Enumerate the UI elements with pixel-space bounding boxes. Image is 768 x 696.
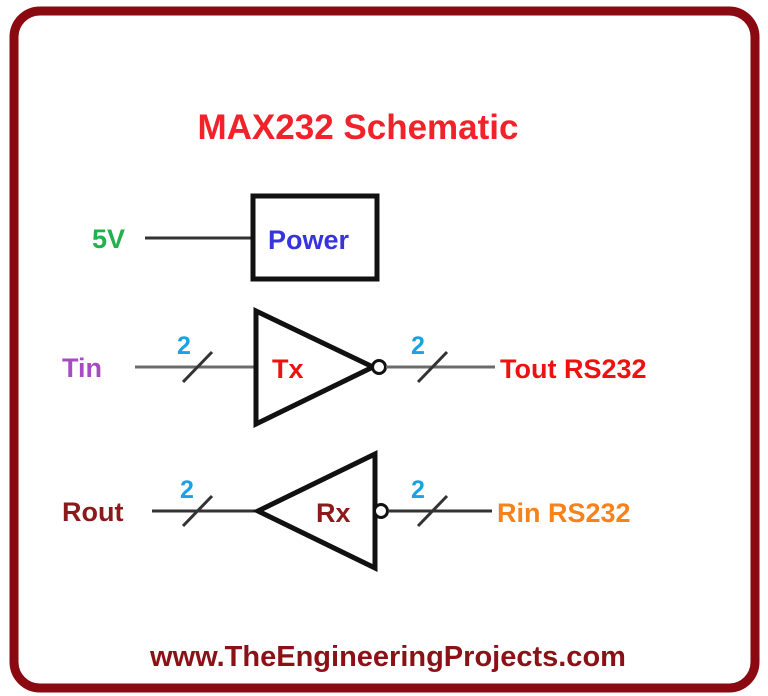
tin-bus-width-label: 2 [177, 332, 191, 360]
figure-title: MAX232 Schematic [198, 108, 519, 147]
rx-gate-label: Rx [316, 498, 351, 528]
tx-inverting-bubble-icon [373, 361, 386, 374]
rin-rs232-label: Rin RS232 [497, 498, 631, 528]
tout-bus-width-label: 2 [411, 332, 425, 360]
rout-bus-width-label: 2 [180, 476, 194, 504]
tin-label: Tin [62, 353, 102, 383]
schematic-figure: MAX232 Schematic 5V Power Tin 2 Tx 2 [0, 0, 768, 696]
tx-gate-label: Tx [272, 354, 304, 384]
rout-label: Rout [62, 497, 123, 527]
power-stage: 5V Power [92, 196, 377, 279]
power-block-label: Power [268, 225, 350, 255]
max232-schematic-svg: MAX232 Schematic 5V Power Tin 2 Tx 2 [0, 0, 768, 696]
footer-watermark: www.TheEngineeringProjects.com [149, 641, 626, 673]
tout-rs232-label: Tout RS232 [500, 354, 647, 384]
transmitter-stage: Tin 2 Tx 2 Tout RS232 [62, 311, 647, 424]
supply-voltage-label: 5V [92, 224, 125, 254]
rin-bus-width-label: 2 [411, 476, 425, 504]
receiver-stage: Rout 2 Rx 2 Rin RS232 [62, 454, 631, 568]
rx-inverting-bubble-icon [375, 505, 388, 518]
